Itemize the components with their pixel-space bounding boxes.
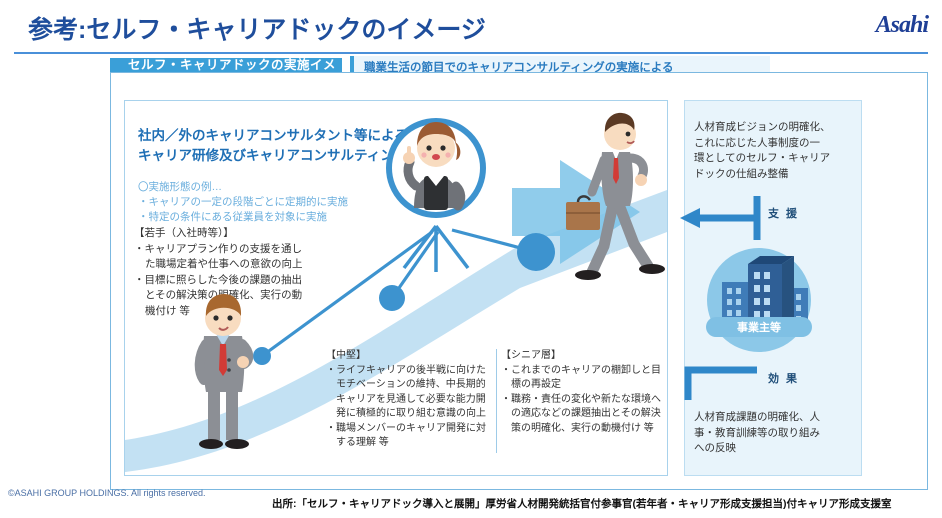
stage-mid-line-2: モチベーションの維持、中長期的 <box>326 378 498 393</box>
vision-line-1: 人材育成ビジョンの明確化、 <box>694 120 844 136</box>
copyright-notice: ©ASAHI GROUP HOLDINGS. All rights reserv… <box>8 488 206 498</box>
stage-youth-line-3: ・目標に照らした今後の課題の抽出 <box>134 273 364 289</box>
vision-line-4: ドックの仕組み整備 <box>694 167 844 183</box>
stage-senior-line-3: ・職務・責任の変化や新たな環境へ <box>501 393 669 408</box>
panel-heading-line-2: キャリア研修及びキャリアコンサルティング <box>138 146 468 166</box>
example-item-2: ・特定の条件にある従業員を対象に実施 <box>138 210 418 225</box>
panel-heading-line-1: 社内／外のキャリアコンサルタント等による <box>138 126 468 146</box>
stage-mid: 【中堅】 ・ライフキャリアの後半戦に向けた モチベーションの維持、中長期的 キャ… <box>326 349 498 451</box>
stage-youth-title: 【若手（入社時等）】 <box>134 226 364 242</box>
stage-youth-line-4: とその解決策の明確化、実行の動 <box>134 288 364 304</box>
employer-label: 事業主等 <box>706 317 812 337</box>
stage-youth: 【若手（入社時等）】 ・キャリアプラン作りの支援を通し た職場定着や仕事への意欲… <box>134 226 364 319</box>
stage-senior: 【シニア層】 ・これまでのキャリアの棚卸しと目 標の再設定 ・職務・責任の変化や… <box>501 349 669 436</box>
page-title: 参考:セルフ・キャリアドックのイメージ <box>28 10 486 46</box>
stage-youth-line-5: 機付け 等 <box>134 304 364 320</box>
stage-mid-line-1: ・ライフキャリアの後半戦に向けた <box>326 364 498 379</box>
example-item-1: ・キャリアの一定の段階ごとに定期的に実施 <box>138 195 418 210</box>
vision-text: 人材育成ビジョンの明確化、 これに応じた人事制度の一 環としてのセルフ・キャリア… <box>694 120 844 182</box>
stage-mid-line-5: ・職場メンバーのキャリア開発に対 <box>326 422 498 437</box>
outcome-line-3: への反映 <box>694 441 844 457</box>
effect-label: 効 果 <box>768 370 799 386</box>
vision-line-3: 環としてのセルフ・キャリア <box>694 151 844 167</box>
vision-line-2: これに応じた人事制度の一 <box>694 136 844 152</box>
stage-youth-line-1: ・キャリアプラン作りの支援を通し <box>134 242 364 258</box>
panel-heading: 社内／外のキャリアコンサルタント等による キャリア研修及びキャリアコンサルティン… <box>138 126 468 166</box>
support-label: 支 援 <box>768 205 799 221</box>
source-note: 出所:「セルフ・キャリアドック導入と展開」厚労省人材開発統括官付参事官(若年者・… <box>272 496 892 511</box>
asahi-logo: Asahi <box>876 12 928 39</box>
stage-mid-line-4: 発に積極的に取り組む意識の向上 <box>326 407 498 422</box>
outcome-line-2: 事・教育訓練等の取り組み <box>694 426 844 442</box>
stage-senior-line-1: ・これまでのキャリアの棚卸しと目 <box>501 364 669 379</box>
stage-mid-line-3: キャリアを見通して必要な能力開 <box>326 393 498 408</box>
stage-senior-title: 【シニア層】 <box>501 349 669 364</box>
example-block: 〇実施形態の例… ・キャリアの一定の段階ごとに定期的に実施 ・特定の条件にある従… <box>138 180 418 225</box>
stage-mid-line-6: する理解 等 <box>326 436 498 451</box>
stage-youth-line-2: た職場定着や仕事への意欲の向上 <box>134 257 364 273</box>
stage-senior-line-2: 標の再設定 <box>501 378 669 393</box>
outcome-text: 人材育成課題の明確化、人 事・教育訓練等の取り組み への反映 <box>694 410 844 457</box>
outcome-line-1: 人材育成課題の明確化、人 <box>694 410 844 426</box>
slide-header: 参考:セルフ・キャリアドックのイメージ Asahi <box>0 0 942 54</box>
stage-senior-line-5: 策の明確化、実行の動機付け 等 <box>501 422 669 437</box>
stage-senior-line-4: の適応などの課題抽出とその解決 <box>501 407 669 422</box>
example-title: 〇実施形態の例… <box>138 180 418 195</box>
stage-mid-title: 【中堅】 <box>326 349 498 364</box>
